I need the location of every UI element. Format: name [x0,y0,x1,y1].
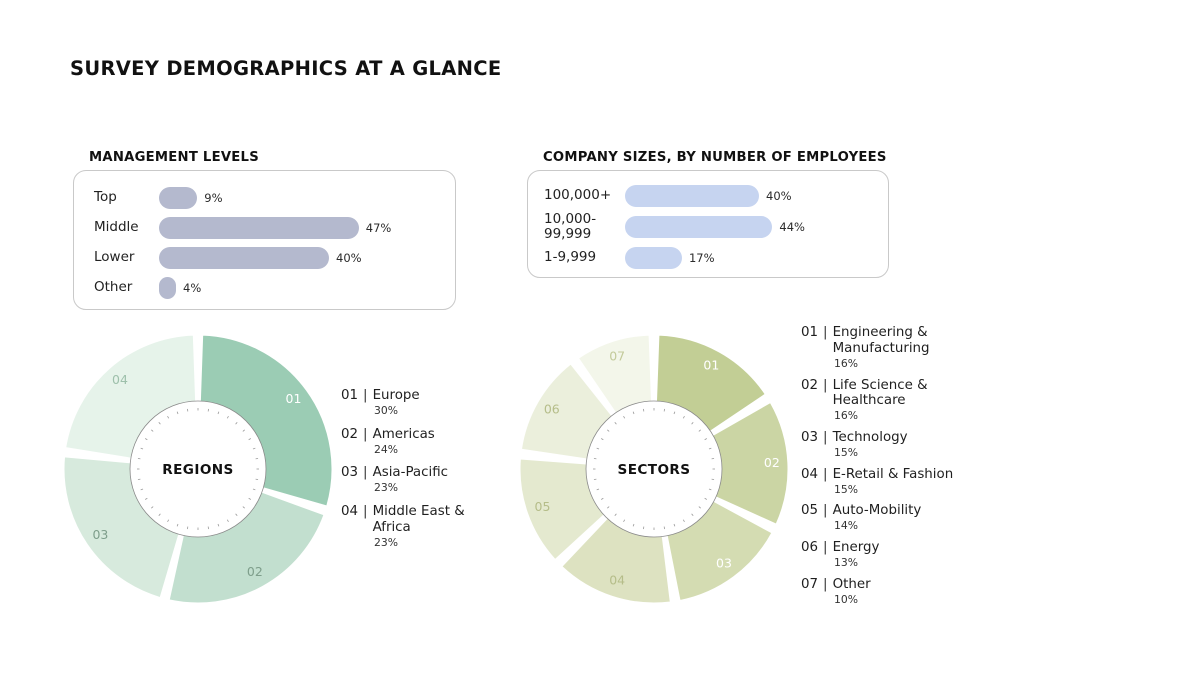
regions-legend: 01|Europe30%02|Americas24%03|Asia-Pacifi… [341,388,501,559]
bar-value-label: 17% [689,251,715,265]
legend-item-head: 05|Auto-Mobility [801,503,986,519]
legend-item-separator: | [363,388,368,404]
legend-item[interactable]: 01|Europe30% [341,388,501,417]
legend-item-index: 01 [801,325,818,357]
legend-item[interactable]: 04|Middle East & Africa23% [341,504,501,549]
legend-item-index: 05 [801,503,818,519]
bar-row: Middle [94,213,139,243]
legend-item[interactable]: 02|Life Science & Healthcare16% [801,378,986,423]
legend-item-name: Engineering & Manufacturing [833,325,986,357]
bar-track: 44% [625,216,805,238]
legend-item[interactable]: 01|Engineering & Manufacturing16% [801,325,986,370]
donut-slice-number: 04 [609,573,625,588]
bar-row-label: Lower [94,250,134,265]
legend-item-separator: | [823,577,828,593]
bar-fill [159,277,176,299]
legend-item-index: 06 [801,540,818,556]
bar-value-label: 4% [183,281,201,295]
bar-track: 9% [159,187,223,209]
legend-item-percent: 15% [834,484,986,496]
legend-item-separator: | [823,540,828,556]
donut-slice-number: 01 [286,391,302,406]
legend-item-percent: 14% [834,520,986,532]
legend-item-percent: 16% [834,358,986,370]
bar-row: Lower [94,243,134,273]
bar-value-label: 40% [766,189,792,203]
legend-item-separator: | [363,427,368,443]
legend-item-percent: 16% [834,410,986,422]
bar-row: 10,000- 99,999 [544,212,596,242]
donut-center-label: SECTORS [618,462,691,478]
legend-item-separator: | [823,325,828,357]
bar-fill [159,247,329,269]
legend-item[interactable]: 02|Americas24% [341,427,501,456]
legend-item-head: 03|Technology [801,430,986,446]
legend-item-name: Life Science & Healthcare [833,378,986,410]
company-sizes-heading: COMPANY SIZES, BY NUMBER OF EMPLOYEES [543,150,887,165]
legend-item-name: Auto-Mobility [833,503,922,519]
donut-slice-number: 06 [544,402,560,417]
legend-item-index: 04 [341,504,358,536]
company-sizes-card: 100,000+40%10,000- 99,99944%1-9,99917% [527,170,889,278]
legend-item-head: 02|Americas [341,427,501,443]
bar-value-label: 9% [204,191,222,205]
bar-row: 1-9,999 [544,243,596,273]
donut-slice-number: 05 [535,499,551,514]
bar-track: 4% [159,277,201,299]
bar-fill [625,185,759,207]
legend-item-percent: 24% [374,444,501,456]
sectors-donut-chart: 01020304050607SECTORS [518,333,790,605]
legend-item-index: 04 [801,467,818,483]
bar-value-label: 40% [336,251,362,265]
bar-fill [159,217,359,239]
legend-item[interactable]: 05|Auto-Mobility14% [801,503,986,532]
bar-row-label: 100,000+ [544,188,611,203]
sectors-legend: 01|Engineering & Manufacturing16%02|Life… [801,325,986,613]
bar-value-label: 44% [779,220,805,234]
legend-item-name: Technology [833,430,908,446]
legend-item-separator: | [363,465,368,481]
management-levels-heading: MANAGEMENT LEVELS [89,150,259,165]
legend-item-separator: | [823,378,828,410]
bar-fill [625,247,682,269]
donut-slice-number: 04 [112,372,128,387]
bar-track: 40% [625,185,792,207]
donut-center-label: REGIONS [162,462,234,478]
bar-value-label: 47% [366,221,392,235]
bar-row-label: 10,000- 99,999 [544,212,596,242]
bar-row: Top [94,183,117,213]
legend-item-head: 06|Energy [801,540,986,556]
legend-item[interactable]: 03|Asia-Pacific23% [341,465,501,494]
legend-item-head: 01|Europe [341,388,501,404]
legend-item[interactable]: 06|Energy13% [801,540,986,569]
legend-item-index: 03 [341,465,358,481]
donut-svg: 01020304REGIONS [62,333,334,605]
legend-item-separator: | [823,467,828,483]
legend-item-head: 02|Life Science & Healthcare [801,378,986,410]
legend-item-head: 04|Middle East & Africa [341,504,501,536]
legend-item-head: 04|E-Retail & Fashion [801,467,986,483]
page-title: SURVEY DEMOGRAPHICS AT A GLANCE [70,57,502,80]
legend-item[interactable]: 04|E-Retail & Fashion15% [801,467,986,496]
legend-item-name: Other [833,577,871,593]
donut-svg: 01020304050607SECTORS [518,333,790,605]
legend-item-percent: 13% [834,557,986,569]
legend-item-head: 07|Other [801,577,986,593]
bar-row: Other [94,273,132,303]
legend-item-percent: 23% [374,482,501,494]
management-levels-card: Top9%Middle47%Lower40%Other4% [73,170,456,310]
legend-item-percent: 10% [834,594,986,606]
legend-item-name: Americas [373,427,435,443]
donut-slice-number: 02 [247,564,263,579]
bar-row-label: Top [94,190,117,205]
donut-slice-number: 03 [716,556,732,571]
legend-item-percent: 30% [374,405,501,417]
legend-item-index: 03 [801,430,818,446]
legend-item-index: 01 [341,388,358,404]
regions-donut-chart: 01020304REGIONS [62,333,334,605]
legend-item-percent: 15% [834,447,986,459]
legend-item-name: Middle East & Africa [373,504,501,536]
company-bar-list: 100,000+40%10,000- 99,99944%1-9,99917% [528,171,888,277]
legend-item-percent: 23% [374,537,501,549]
legend-item-name: Europe [373,388,420,404]
bar-row-label: Other [94,280,132,295]
bar-track: 40% [159,247,362,269]
legend-item-name: Energy [833,540,880,556]
legend-item-index: 02 [341,427,358,443]
legend-item-head: 01|Engineering & Manufacturing [801,325,986,357]
bar-track: 17% [625,247,715,269]
bar-fill [159,187,197,209]
management-bar-list: Top9%Middle47%Lower40%Other4% [74,171,455,309]
legend-item[interactable]: 03|Technology15% [801,430,986,459]
legend-item[interactable]: 07|Other10% [801,577,986,606]
donut-slice-number: 02 [764,455,780,470]
bar-row: 100,000+ [544,181,611,211]
legend-item-name: Asia-Pacific [373,465,448,481]
bar-row-label: Middle [94,220,139,235]
donut-slice-number: 03 [92,527,108,542]
donut-slice-number: 01 [703,357,719,372]
bar-fill [625,216,772,238]
legend-item-head: 03|Asia-Pacific [341,465,501,481]
legend-item-separator: | [823,430,828,446]
legend-item-index: 02 [801,378,818,410]
bar-row-label: 1-9,999 [544,250,596,265]
donut-slice-number: 07 [609,348,625,363]
bar-track: 47% [159,217,391,239]
legend-item-index: 07 [801,577,818,593]
legend-item-separator: | [823,503,828,519]
legend-item-separator: | [363,504,368,536]
legend-item-name: E-Retail & Fashion [833,467,954,483]
